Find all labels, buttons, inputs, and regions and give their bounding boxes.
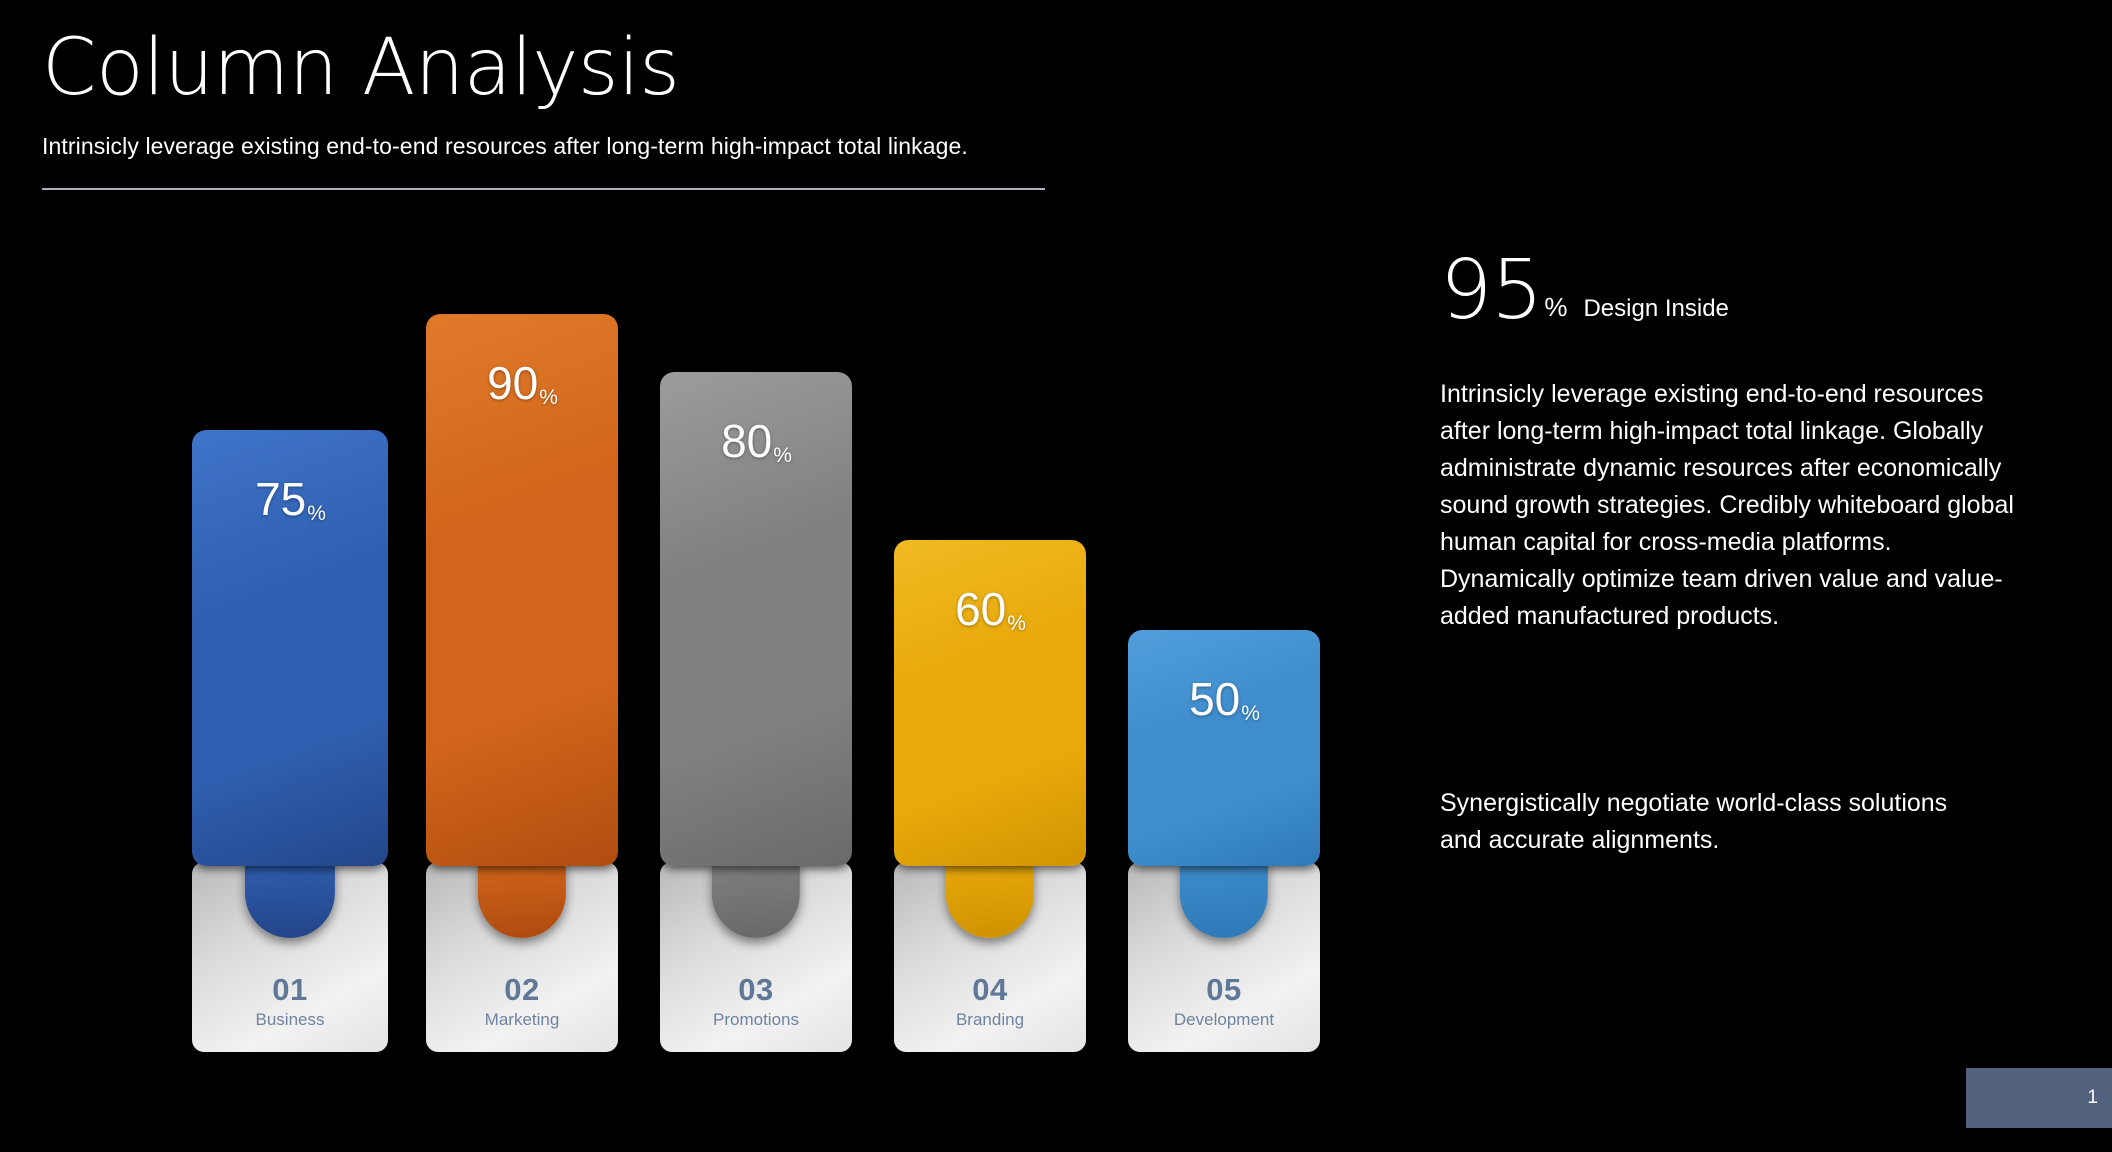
- column-value-number: 80: [721, 415, 772, 467]
- column-category-label: Branding: [894, 1011, 1086, 1030]
- column-bar-fill: [1128, 630, 1320, 866]
- page-number-text: 1: [2087, 1087, 2098, 1109]
- column-value-label: 75%: [192, 476, 388, 522]
- slide-header: Column Analysis Intrinsicly leverage exi…: [42, 28, 1052, 190]
- chart-column-03[interactable]: 03Promotions80%: [660, 262, 852, 1052]
- stat-caption: Design Inside: [1583, 295, 1728, 323]
- pedestal-text-block: 02Marketing: [426, 973, 618, 1030]
- column-index-number: 04: [894, 973, 1086, 1007]
- column-chart: 01Business75%02Marketing90%03Promotions8…: [0, 262, 1360, 1052]
- pedestal-text-block: 01Business: [192, 973, 388, 1030]
- stat-number: 95: [1440, 252, 1542, 330]
- chart-column-04[interactable]: 04Branding60%: [894, 262, 1086, 1052]
- body-paragraph-primary: Intrinsicly leverage existing end-to-end…: [1440, 376, 2025, 635]
- page-subtitle: Intrinsicly leverage existing end-to-end…: [42, 133, 1052, 160]
- column-value-number: 90: [487, 357, 538, 409]
- column-bar[interactable]: 75%: [192, 430, 388, 866]
- column-bar[interactable]: 60%: [894, 540, 1086, 866]
- pedestal-text-block: 03Promotions: [660, 973, 852, 1030]
- header-divider: [42, 188, 1045, 190]
- column-category-label: Promotions: [660, 1011, 852, 1030]
- chart-column-01[interactable]: 01Business75%: [192, 262, 388, 1052]
- column-bar[interactable]: 80%: [660, 372, 852, 866]
- column-category-label: Development: [1128, 1011, 1320, 1030]
- chart-column-05[interactable]: 05Development50%: [1128, 262, 1320, 1052]
- column-value-label: 90%: [426, 360, 618, 406]
- column-category-label: Business: [192, 1011, 388, 1030]
- column-value-percent-symbol: %: [1007, 612, 1026, 635]
- column-value-number: 75: [255, 473, 306, 525]
- column-value-label: 50%: [1128, 676, 1320, 722]
- column-index-number: 05: [1128, 973, 1320, 1007]
- stat-percent-symbol: %: [1544, 292, 1567, 323]
- column-index-number: 01: [192, 973, 388, 1007]
- column-value-percent-symbol: %: [773, 444, 792, 467]
- pedestal-text-block: 04Branding: [894, 973, 1086, 1030]
- chart-column-02[interactable]: 02Marketing90%: [426, 262, 618, 1052]
- column-category-label: Marketing: [426, 1011, 618, 1030]
- column-index-number: 03: [660, 973, 852, 1007]
- pedestal-text-block: 05Development: [1128, 973, 1320, 1030]
- body-paragraph-secondary: Synergistically negotiate world-class so…: [1440, 785, 1960, 859]
- column-value-percent-symbol: %: [1241, 702, 1260, 725]
- column-value-label: 80%: [660, 418, 852, 464]
- side-panel: 95 % Design Inside Intrinsicly leverage …: [1440, 262, 2040, 859]
- column-bar[interactable]: 50%: [1128, 630, 1320, 866]
- column-value-number: 60: [955, 583, 1006, 635]
- column-value-percent-symbol: %: [307, 502, 326, 525]
- column-index-number: 02: [426, 973, 618, 1007]
- page-title: Column Analysis: [42, 28, 1052, 109]
- page-number-badge: 1: [1966, 1068, 2112, 1128]
- column-bar-surface: [1128, 630, 1320, 866]
- column-value-label: 60%: [894, 586, 1086, 632]
- column-bar[interactable]: 90%: [426, 314, 618, 866]
- column-value-percent-symbol: %: [539, 386, 558, 409]
- highlight-stat: 95 % Design Inside: [1440, 252, 2040, 330]
- column-value-number: 50: [1189, 673, 1240, 725]
